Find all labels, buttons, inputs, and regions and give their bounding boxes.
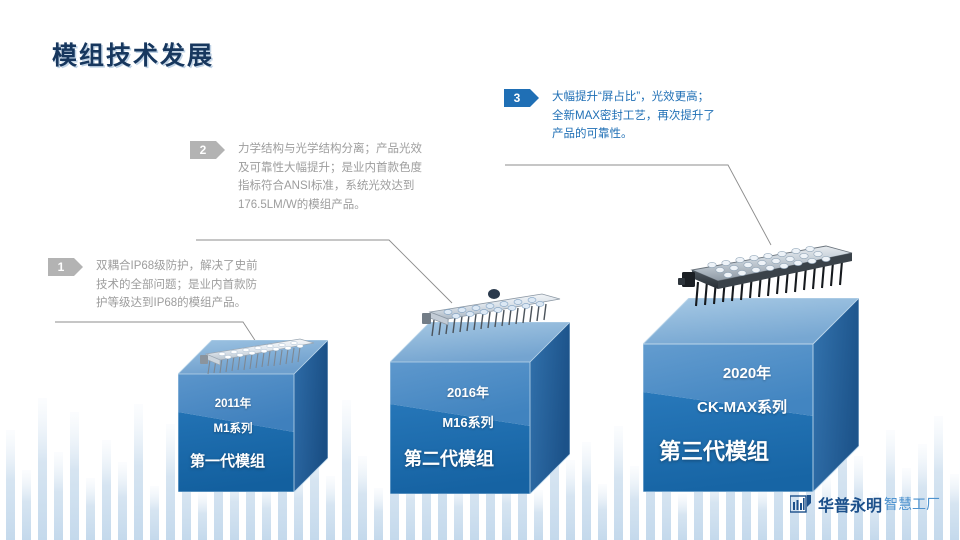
callout-1-badge: 1 [48, 258, 74, 276]
led-module-m16-icon [418, 286, 566, 340]
company-logo: 华普永明 智慧工厂 [790, 492, 940, 516]
cube-generation-3: 2020年 CK-MAX系列 第三代模组 [643, 298, 859, 492]
cube-generation-2: 2016年 M16系列 第二代模组 [390, 322, 570, 494]
page-title: 模组技术发展 [52, 36, 214, 72]
callout-2: 2 力学结构与光学结构分离；产品光效 及可靠性大幅提升；是业内首款色度 指标符合… [190, 140, 422, 215]
slide-canvas: 模组技术发展 3 大幅提升“屏占比”，光效更高； 全新MAX密封工艺，再次提升了… [0, 0, 960, 540]
callout-3-badge: 3 [504, 89, 530, 107]
logo-sub-text: 智慧工厂 [884, 494, 940, 514]
callout-2-text: 力学结构与光学结构分离；产品光效 及可靠性大幅提升；是业内首款色度 指标符合AN… [238, 140, 422, 215]
led-module-m1-icon [196, 334, 318, 378]
logo-main-text: 华普永明 [818, 492, 882, 516]
logo-mark-icon [790, 494, 812, 514]
callout-1-text: 双耦合IP68级防护，解决了史前 技术的全部问题；是业内首款防 护等级达到IP6… [96, 257, 258, 313]
callout-3-text: 大幅提升“屏占比”，光效更高； 全新MAX密封工艺，再次提升了 产品的可靠性。 [552, 88, 715, 144]
callout-2-badge: 2 [190, 141, 216, 159]
callout-3: 3 大幅提升“屏占比”，光效更高； 全新MAX密封工艺，再次提升了 产品的可靠性… [504, 88, 715, 144]
led-module-ckmax-icon [676, 234, 858, 310]
callout-1: 1 双耦合IP68级防护，解决了史前 技术的全部问题；是业内首款防 护等级达到I… [48, 257, 258, 313]
